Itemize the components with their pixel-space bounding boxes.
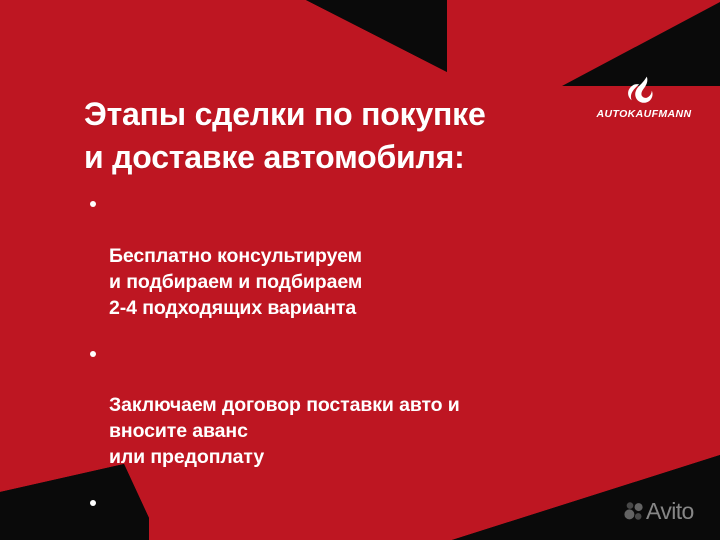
list-item-text: Заключаем договор поставки авто и вносит… [109,394,460,468]
avito-wordmark: Avito [646,500,694,523]
list-item: Выкуп автомобиля, его доставка и таможен… [84,491,624,540]
deal-stages-list: Бесплатно консультируем и подбираем и по… [84,192,624,540]
avito-watermark: Avito [624,500,694,523]
bullet-dot-icon [90,351,96,357]
list-item: Заключаем договор поставки авто и вносит… [84,342,624,472]
bullet-dot-icon [90,500,96,506]
bullet-dot-icon [90,201,96,207]
brand-logo: AUTOKAUFMANN [588,76,700,128]
avito-dots-icon [624,502,643,521]
promo-poster: Этапы сделки по покупке и доставке автом… [0,0,720,540]
page-title: Этапы сделки по покупке и доставке автом… [84,93,604,179]
flame-swoosh-icon [627,76,661,106]
list-item-text: Бесплатно консультируем и подбираем и по… [109,245,362,319]
brand-wordmark: AUTOKAUFMANN [596,108,691,120]
list-item: Бесплатно консультируем и подбираем и по… [84,192,624,322]
